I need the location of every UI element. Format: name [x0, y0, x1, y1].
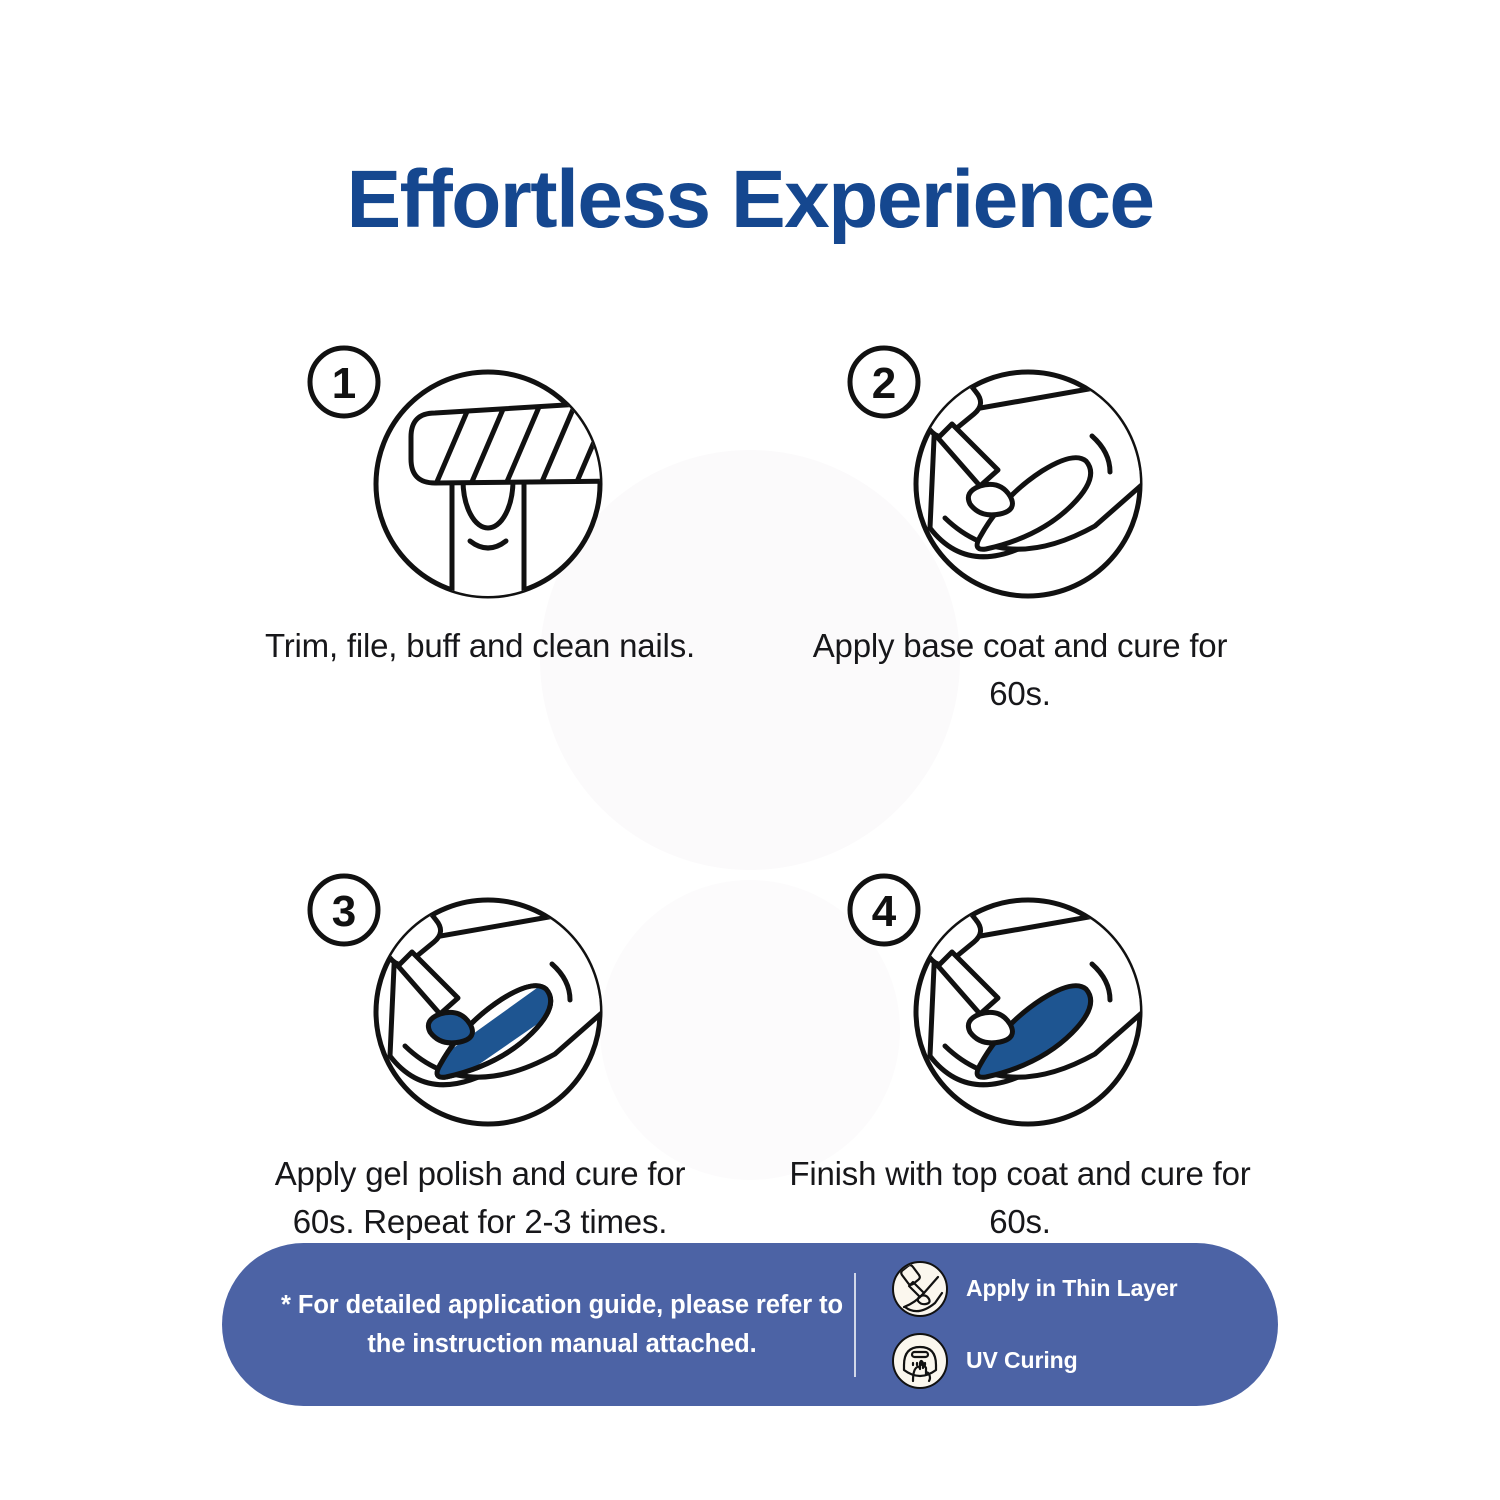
step-3-number: 3	[332, 887, 356, 936]
step-2-number: 2	[872, 359, 896, 408]
thin-layer-brush-icon	[892, 1261, 948, 1317]
step-1-illustration: 1	[300, 338, 660, 608]
step-3-caption: Apply gel polish and cure for 60s. Repea…	[245, 1150, 715, 1246]
footer-banner: * For detailed application guide, please…	[222, 1243, 1278, 1406]
step-4-illustration: 4	[840, 866, 1200, 1136]
step-3: 3 Apply gel polish and cure for 60s. Rep…	[210, 866, 750, 1246]
banner-divider	[854, 1273, 856, 1377]
feature-label-uv-curing: UV Curing	[966, 1347, 1078, 1374]
infographic-page: Effortless Experience	[0, 0, 1500, 1500]
steps-row-gap	[210, 718, 1290, 866]
step-1-number: 1	[332, 359, 356, 408]
banner-note-text: * For detailed application guide, please…	[222, 1286, 852, 1364]
step-4-number: 4	[872, 887, 897, 936]
page-title: Effortless Experience	[0, 152, 1500, 248]
feature-label-thin-layer: Apply in Thin Layer	[966, 1275, 1178, 1302]
step-2-caption: Apply base coat and cure for 60s.	[785, 622, 1255, 718]
steps-row-bottom: 3 Apply gel polish and cure for 60s. Rep…	[210, 866, 1290, 1246]
step-3-illustration: 3	[300, 866, 660, 1136]
feature-uv-curing: UV Curing	[892, 1333, 1278, 1389]
uv-lamp-hand-icon	[892, 1333, 948, 1389]
banner-features: Apply in Thin Layer	[856, 1261, 1278, 1389]
step-2-illustration: 2	[840, 338, 1200, 608]
step-2: 2 Apply base coat and cure for 60s.	[750, 338, 1290, 718]
steps-grid: 1 Trim, file, buff and clean nails.	[210, 338, 1290, 1246]
step-1: 1 Trim, file, buff and clean nails.	[210, 338, 750, 718]
steps-row-top: 1 Trim, file, buff and clean nails.	[210, 338, 1290, 718]
feature-apply-thin-layer: Apply in Thin Layer	[892, 1261, 1278, 1317]
step-4: 4 Finish with top coat and cure for 60s.	[750, 866, 1290, 1246]
step-4-caption: Finish with top coat and cure for 60s.	[785, 1150, 1255, 1246]
step-1-caption: Trim, file, buff and clean nails.	[245, 622, 715, 670]
